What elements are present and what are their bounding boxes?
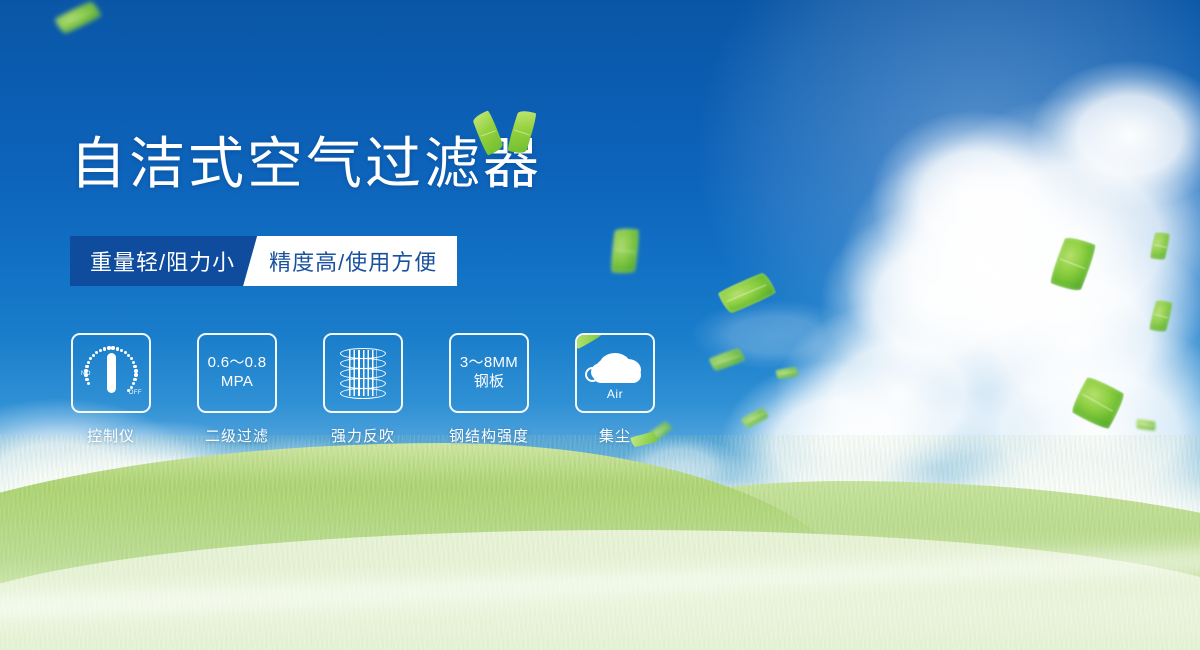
gauge-tick xyxy=(84,373,87,376)
feature-item-blowback[interactable]: 强力反吹 xyxy=(322,333,404,446)
gauge-tick xyxy=(92,354,95,357)
gauge-tick xyxy=(133,365,136,368)
feature-icon-box: 3～8MM 钢板 xyxy=(449,333,529,413)
feature-label: 钢结构强度 xyxy=(449,425,529,446)
gauge-tick xyxy=(87,361,90,364)
gauge-tick xyxy=(130,386,133,389)
pressure-value-icon: 0.6～0.8 MPA xyxy=(208,354,267,392)
gauge-tick xyxy=(132,382,135,385)
feature-item-controller[interactable]: NO OFF 控制仪 xyxy=(70,333,152,446)
product-banner: 自洁式空气过滤器 重量轻/阻力小 精度高/使用方便 NO OFF 控制仪 0.6… xyxy=(0,0,1200,650)
cloud-ring-small xyxy=(585,367,600,382)
feature-item-filtration[interactable]: 0.6～0.8 MPA 二级过滤 xyxy=(196,333,278,446)
gauge-label-off: OFF xyxy=(129,390,142,396)
steel-plate-icon: 3～8MM 钢板 xyxy=(460,354,518,392)
feature-item-dust[interactable]: Air 集尘 xyxy=(574,333,656,446)
feature-label: 集尘 xyxy=(599,425,631,446)
gauge-tick xyxy=(89,357,92,360)
gauge-tick xyxy=(103,347,106,350)
feature-icon-box: NO OFF xyxy=(71,333,151,413)
gauge-tick xyxy=(99,349,102,352)
gauge-tick xyxy=(84,369,87,372)
gauge-tick xyxy=(111,346,114,349)
gauge-tick xyxy=(116,347,119,350)
gauge-tick xyxy=(134,373,137,376)
gauge-tick xyxy=(134,369,137,372)
coil-ring xyxy=(340,388,386,399)
leaf-icon xyxy=(630,431,658,447)
gauge-tick xyxy=(120,349,123,352)
feature-label: 控制仪 xyxy=(87,425,135,446)
gauge-needle xyxy=(107,353,116,393)
gauge-tick xyxy=(85,365,88,368)
title-block: 自洁式空气过滤器 xyxy=(70,133,542,196)
feature-icon-box: 0.6～0.8 MPA xyxy=(197,333,277,413)
gauge-tick xyxy=(133,378,136,381)
feature-icon-box xyxy=(323,333,403,413)
page-title: 自洁式空气过滤器 xyxy=(70,133,542,196)
slogan-bar: 重量轻/阻力小 精度高/使用方便 xyxy=(70,236,457,286)
gauge-tick xyxy=(107,346,110,349)
feature-label: 二级过滤 xyxy=(205,425,269,446)
sky-background xyxy=(0,0,1200,650)
coil-blowback-icon xyxy=(337,346,389,400)
feature-list: NO OFF 控制仪 0.6～0.8 MPA 二级过滤 xyxy=(70,333,656,446)
gauge-tick xyxy=(85,378,88,381)
gauge-tick xyxy=(87,382,90,385)
feature-label: 强力反吹 xyxy=(331,425,395,446)
gauge-tick xyxy=(95,351,98,354)
gauge-dial-icon: NO OFF xyxy=(82,345,140,401)
feature-item-steel[interactable]: 3～8MM 钢板 钢结构强度 xyxy=(448,333,530,446)
feature-icon-box: Air xyxy=(575,333,655,413)
gauge-tick xyxy=(132,361,135,364)
slogan-right-text: 精度高/使用方便 xyxy=(243,236,457,286)
air-label: Air xyxy=(585,387,645,401)
gauge-tick xyxy=(130,357,133,360)
air-cloud-icon: Air xyxy=(585,347,645,399)
slogan-left-text: 重量轻/阻力小 xyxy=(70,236,257,286)
